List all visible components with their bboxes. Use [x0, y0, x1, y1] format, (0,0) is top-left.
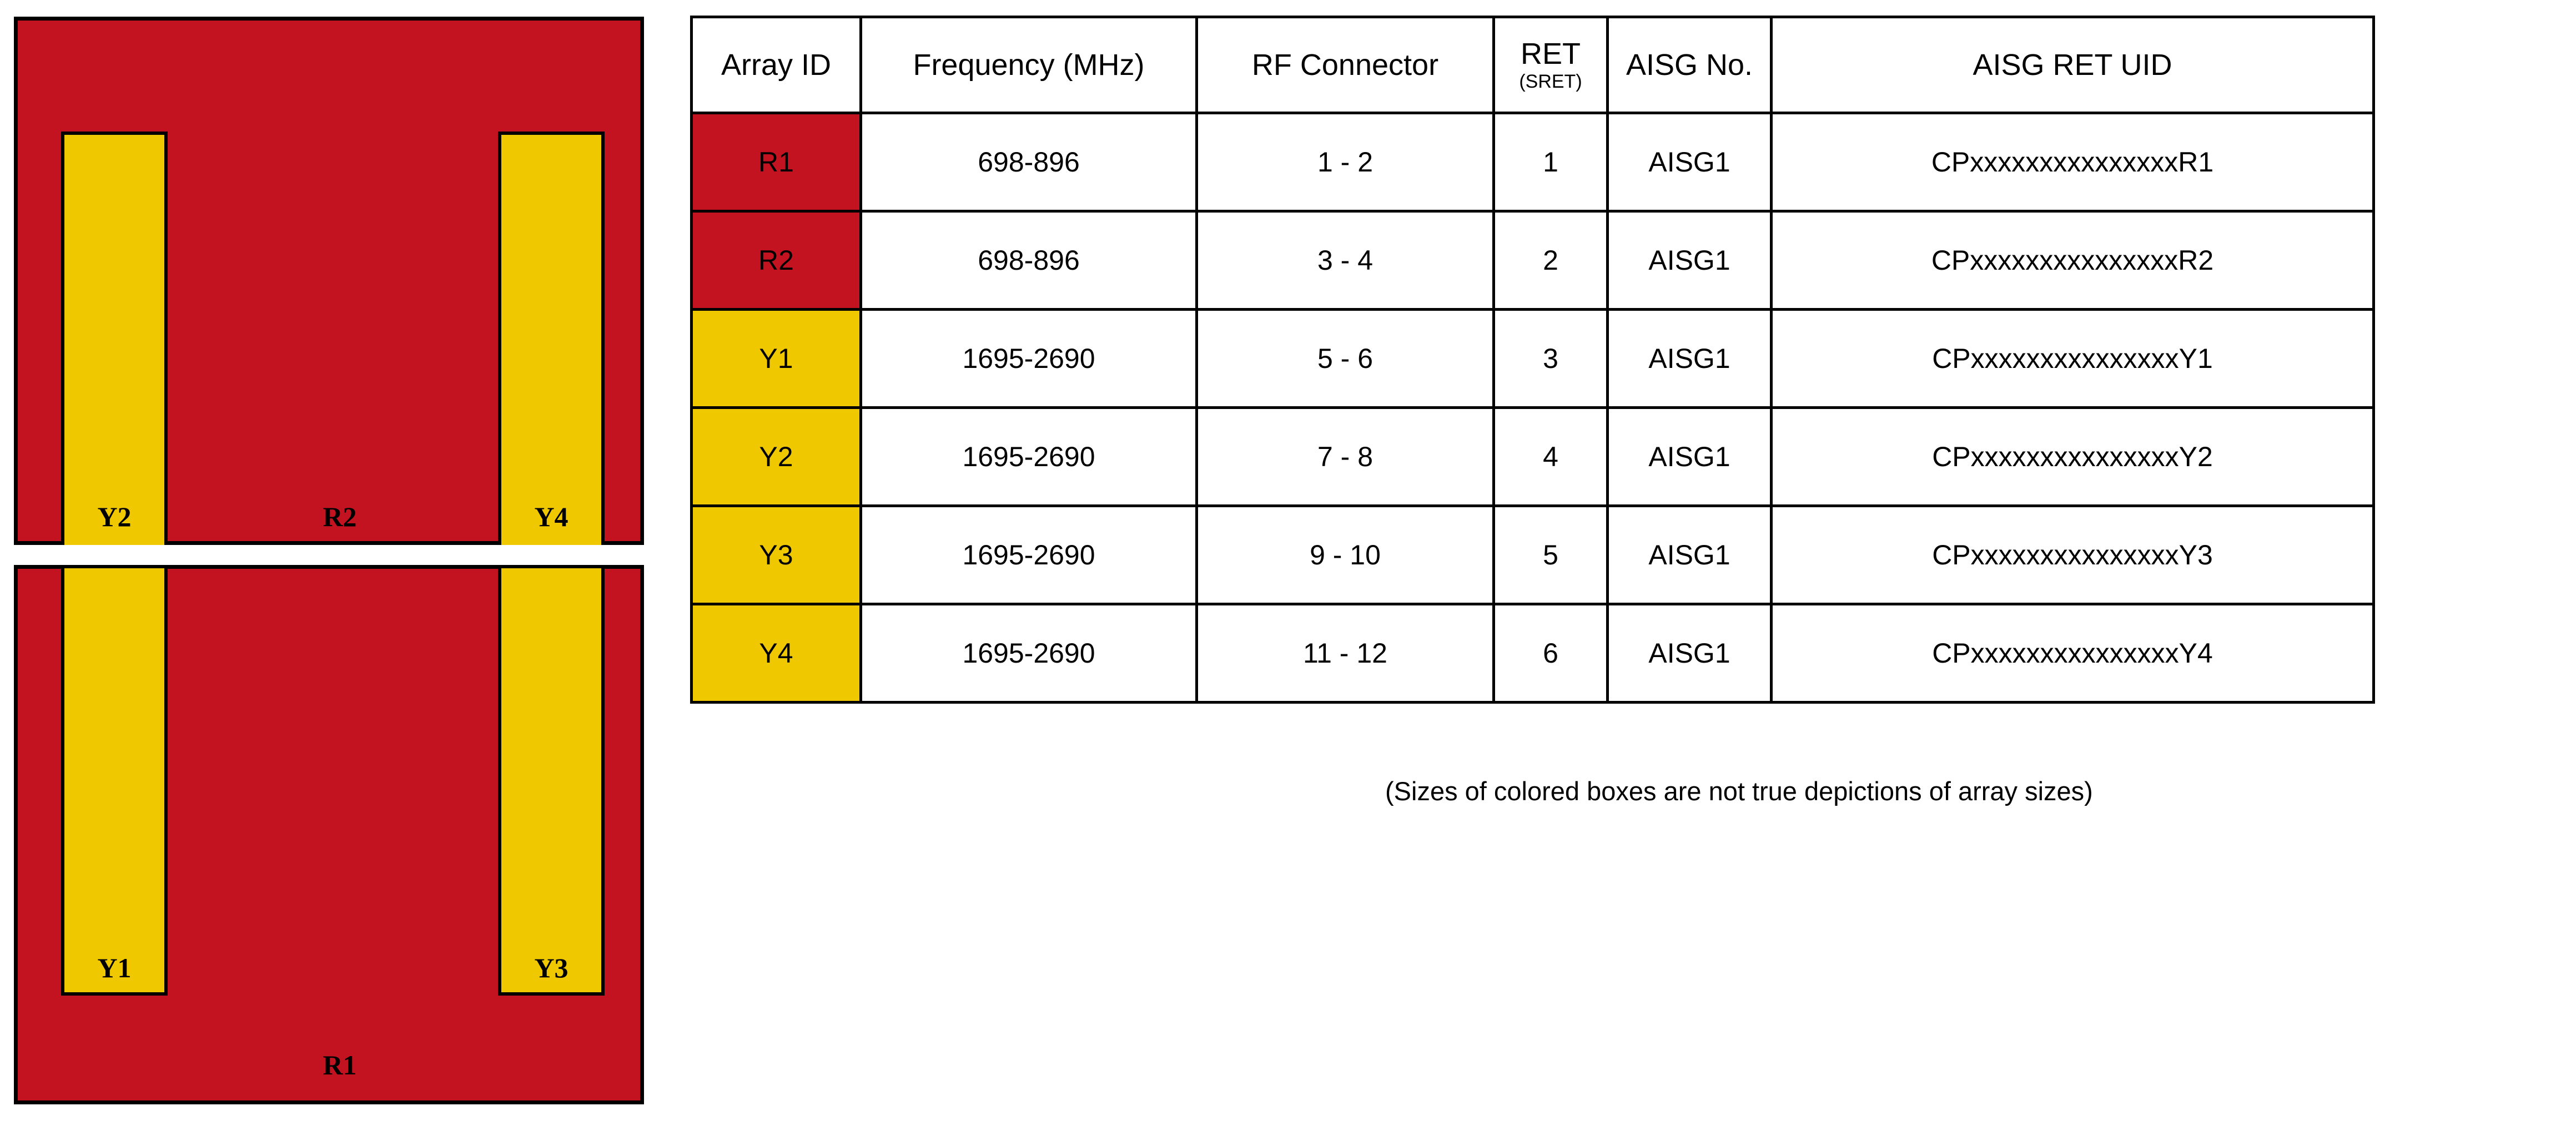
column-header-aisg-ret-uid: AISG RET UID	[1772, 17, 2374, 113]
array-label-r2: R2	[201, 501, 479, 533]
table-caption: (Sizes of colored boxes are not true dep…	[1385, 776, 2093, 806]
array-label-y3: Y3	[498, 952, 605, 984]
cell-frequency: 698-896	[861, 211, 1197, 310]
array-label-y2: Y2	[61, 501, 168, 533]
cell-rf-connector: 9 - 10	[1197, 506, 1494, 604]
table-row: Y11695-26905 - 63AISG1CPxxxxxxxxxxxxxxxY…	[692, 310, 2374, 408]
cell-rf-connector: 11 - 12	[1197, 604, 1494, 703]
array-label-y1: Y1	[61, 952, 168, 984]
column-header-rf-connector: RF Connector	[1197, 17, 1494, 113]
cell-aisg-no: AISG1	[1608, 113, 1772, 211]
cell-frequency: 1695-2690	[861, 408, 1197, 506]
cell-ret: 3	[1494, 310, 1608, 408]
table-row: R2698-8963 - 42AISG1CPxxxxxxxxxxxxxxxR2	[692, 211, 2374, 310]
array-column-y4	[498, 132, 605, 545]
cell-array-id: Y4	[692, 604, 861, 703]
cell-aisg-no: AISG1	[1608, 408, 1772, 506]
column-header-ret-main: RET	[1495, 38, 1606, 70]
array-column-y2	[61, 132, 168, 545]
cell-array-id: Y1	[692, 310, 861, 408]
cell-rf-connector: 7 - 8	[1197, 408, 1494, 506]
cell-aisg-ret-uid: CPxxxxxxxxxxxxxxxY3	[1772, 506, 2374, 604]
cell-rf-connector: 5 - 6	[1197, 310, 1494, 408]
column-header-frequency: Frequency (MHz)	[861, 17, 1197, 113]
cell-ret: 4	[1494, 408, 1608, 506]
cell-aisg-ret-uid: CPxxxxxxxxxxxxxxxR2	[1772, 211, 2374, 310]
array-column-y1	[61, 568, 168, 996]
array-label-r1: R1	[201, 1049, 479, 1081]
cell-aisg-ret-uid: CPxxxxxxxxxxxxxxxY1	[1772, 310, 2374, 408]
array-label-y4: Y4	[498, 501, 605, 533]
cell-rf-connector: 1 - 2	[1197, 113, 1494, 211]
antenna-array-diagram: Y2 R2 Y4 Y1 Y3 R1	[0, 0, 655, 1121]
table-row: R1698-8961 - 21AISG1CPxxxxxxxxxxxxxxxR1	[692, 113, 2374, 211]
cell-aisg-no: AISG1	[1608, 310, 1772, 408]
cell-ret: 2	[1494, 211, 1608, 310]
cell-frequency: 1695-2690	[861, 310, 1197, 408]
cell-array-id: Y3	[692, 506, 861, 604]
cell-array-id: R1	[692, 113, 861, 211]
cell-frequency: 1695-2690	[861, 506, 1197, 604]
upper-antenna-panel: Y2 R2 Y4	[14, 17, 644, 545]
table-row: Y31695-26909 - 105AISG1CPxxxxxxxxxxxxxxx…	[692, 506, 2374, 604]
cell-rf-connector: 3 - 4	[1197, 211, 1494, 310]
column-header-ret: RET (SRET)	[1494, 17, 1608, 113]
column-header-ret-sub: (SRET)	[1495, 72, 1606, 92]
table-body: R1698-8961 - 21AISG1CPxxxxxxxxxxxxxxxR1R…	[692, 113, 2374, 703]
column-header-array-id: Array ID	[692, 17, 861, 113]
column-header-aisg-no: AISG No.	[1608, 17, 1772, 113]
cell-aisg-no: AISG1	[1608, 604, 1772, 703]
cell-frequency: 1695-2690	[861, 604, 1197, 703]
lower-antenna-panel: Y1 Y3 R1	[14, 565, 644, 1104]
table-header: Array ID Frequency (MHz) RF Connector RE…	[692, 17, 2374, 113]
table-row: Y21695-26907 - 84AISG1CPxxxxxxxxxxxxxxxY…	[692, 408, 2374, 506]
array-column-y3	[498, 568, 605, 996]
cell-ret: 1	[1494, 113, 1608, 211]
table-row: Y41695-269011 - 126AISG1CPxxxxxxxxxxxxxx…	[692, 604, 2374, 703]
array-specification-table-container: Array ID Frequency (MHz) RF Connector RE…	[690, 16, 2361, 704]
cell-aisg-no: AISG1	[1608, 506, 1772, 604]
cell-ret: 5	[1494, 506, 1608, 604]
cell-aisg-ret-uid: CPxxxxxxxxxxxxxxxY4	[1772, 604, 2374, 703]
cell-array-id: R2	[692, 211, 861, 310]
cell-aisg-ret-uid: CPxxxxxxxxxxxxxxxR1	[1772, 113, 2374, 211]
cell-array-id: Y2	[692, 408, 861, 506]
cell-aisg-ret-uid: CPxxxxxxxxxxxxxxxY2	[1772, 408, 2374, 506]
cell-aisg-no: AISG1	[1608, 211, 1772, 310]
cell-frequency: 698-896	[861, 113, 1197, 211]
table-header-row: Array ID Frequency (MHz) RF Connector RE…	[692, 17, 2374, 113]
cell-ret: 6	[1494, 604, 1608, 703]
array-specification-table: Array ID Frequency (MHz) RF Connector RE…	[690, 16, 2375, 704]
